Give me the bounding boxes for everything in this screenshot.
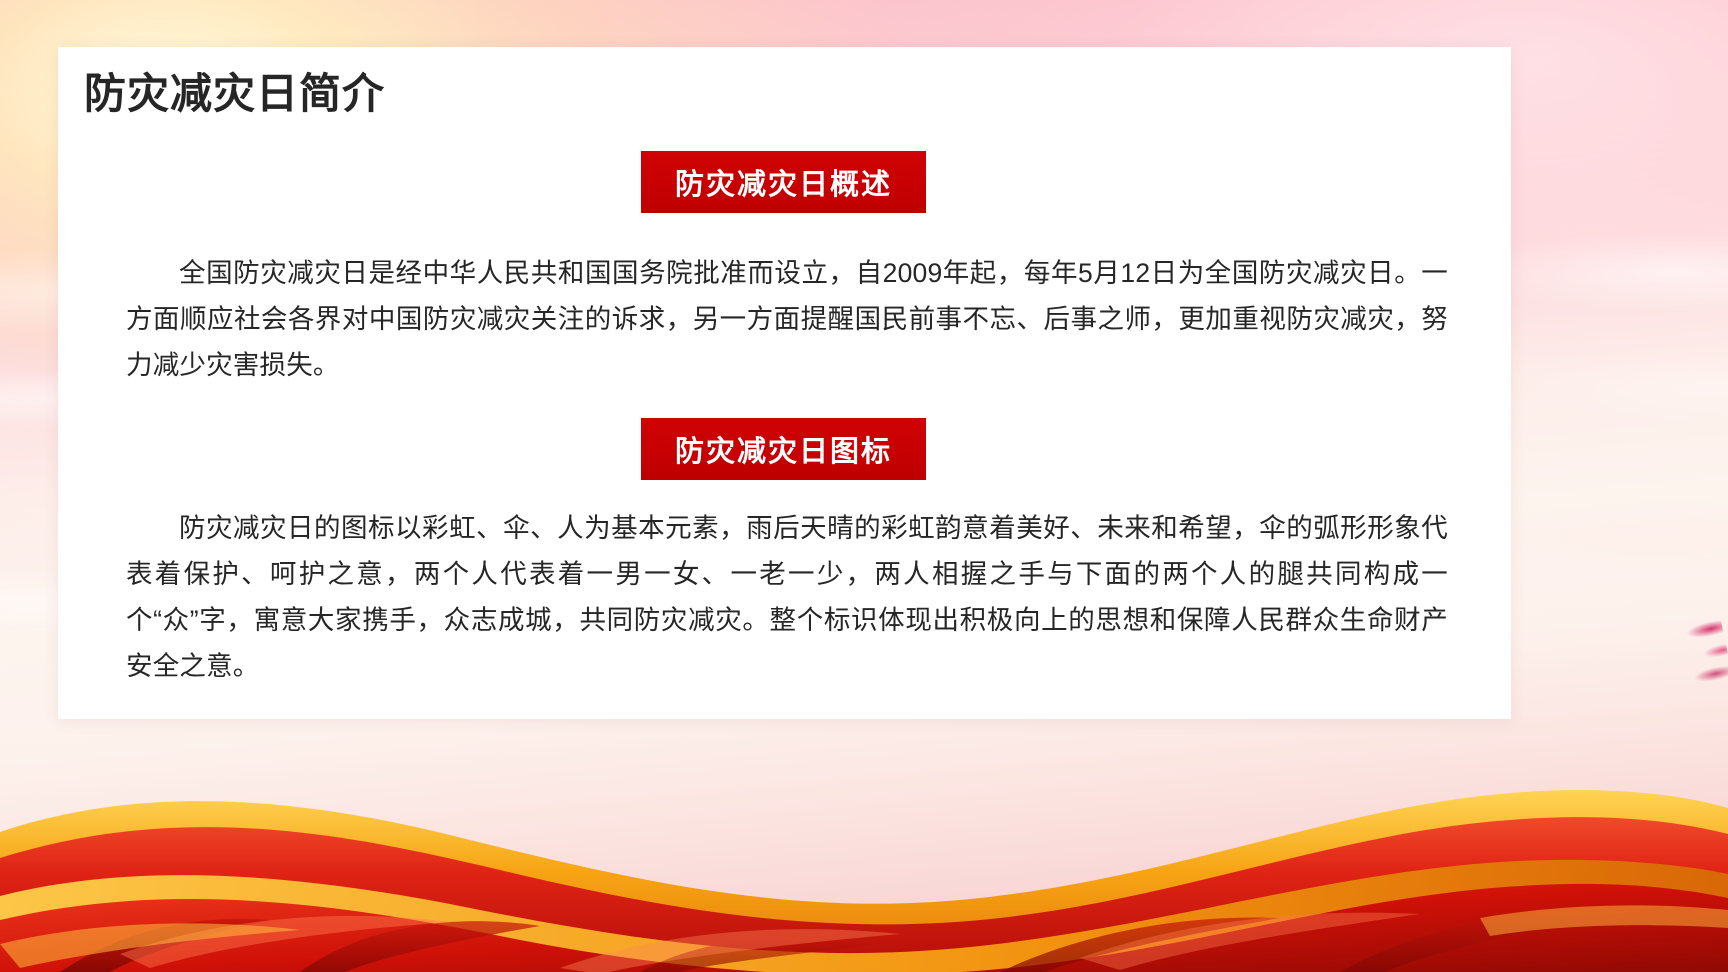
ribbon-svg (0, 682, 1728, 972)
content-card: 防灾减灾日简介 防灾减灾日概述 全国防灾减灾日是经中华人民共和国国务院批准而设立… (58, 47, 1511, 719)
page-title: 防灾减灾日简介 (84, 71, 385, 117)
section-banner-logo: 防灾减灾日图标 (641, 418, 926, 480)
section-banner-overview: 防灾减灾日概述 (641, 151, 926, 213)
red-silk-ribbon-decoration (0, 682, 1728, 972)
slide-root: 防灾减灾日简介 防灾减灾日概述 全国防灾减灾日是经中华人民共和国国务院批准而设立… (0, 0, 1728, 972)
section-body-overview: 全国防灾减灾日是经中华人民共和国国务院批准而设立，自2009年起，每年5月12日… (126, 250, 1448, 388)
section-body-logo: 防灾减灾日的图标以彩虹、伞、人为基本元素，雨后天晴的彩虹韵意着美好、未来和希望，… (126, 505, 1448, 689)
